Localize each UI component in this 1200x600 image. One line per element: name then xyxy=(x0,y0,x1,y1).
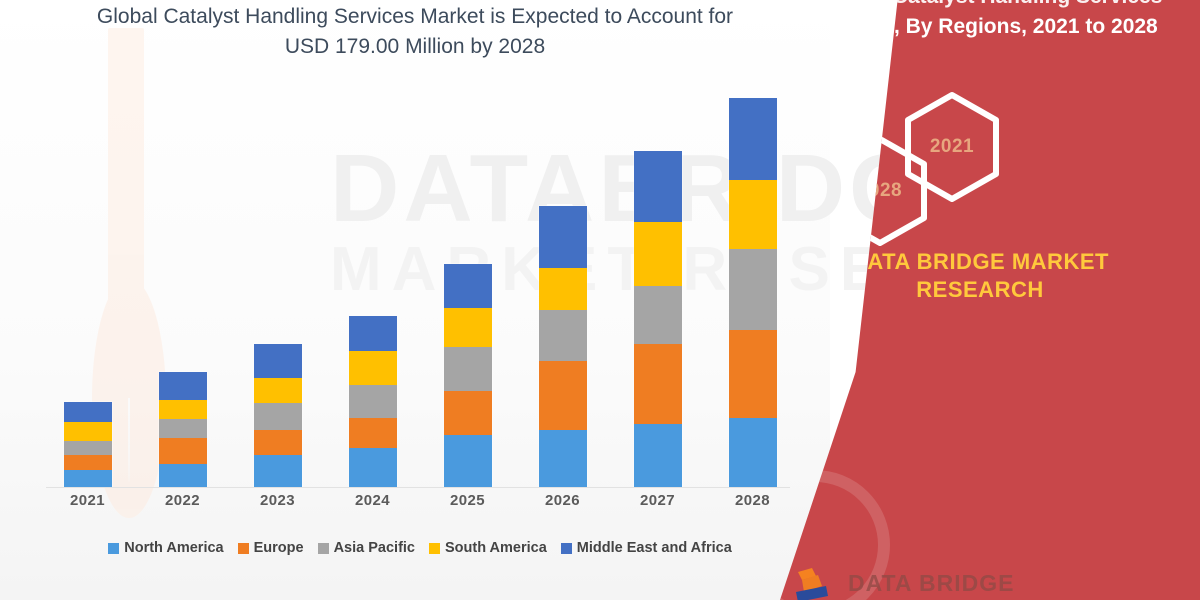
legend-item-middle-east-and-africa[interactable]: Middle East and Africa xyxy=(561,540,732,556)
bar-stack[interactable] xyxy=(539,206,587,487)
panel-title-line-2: Market, By Regions, 2021 to 2028 xyxy=(802,12,1182,42)
x-axis-label-2023: 2023 xyxy=(233,492,323,509)
bar-segment-europe[interactable] xyxy=(64,455,112,470)
bar-segment-europe[interactable] xyxy=(729,330,777,418)
bar-column-2021[interactable] xyxy=(43,60,133,487)
x-axis-label-2026: 2026 xyxy=(518,492,608,509)
data-bridge-logo: DATA BRIDGE xyxy=(792,560,1092,600)
bar-stack[interactable] xyxy=(159,372,207,487)
logo-text: DATA BRIDGE xyxy=(848,570,1014,597)
stacked-bar-chart: 20212022202320242025202620272028 xyxy=(40,60,800,530)
bar-segment-middle-east-and-africa[interactable] xyxy=(444,264,492,308)
bar-segment-middle-east-and-africa[interactable] xyxy=(634,151,682,222)
legend-item-north-america[interactable]: North America xyxy=(108,540,223,556)
legend-item-asia-pacific[interactable]: Asia Pacific xyxy=(318,540,415,556)
legend-label: North America xyxy=(124,540,223,556)
bar-column-2026[interactable] xyxy=(518,60,608,487)
chart-plot-area xyxy=(40,60,800,487)
x-axis-label-2022: 2022 xyxy=(138,492,228,509)
hexagon-2021-label: 2021 xyxy=(902,91,1002,203)
bar-segment-middle-east-and-africa[interactable] xyxy=(159,372,207,400)
legend-swatch-icon xyxy=(429,543,440,554)
x-axis-line xyxy=(46,487,790,488)
legend-swatch-icon xyxy=(238,543,249,554)
page-title: Global Catalyst Handling Services Market… xyxy=(95,2,735,62)
bar-stack[interactable] xyxy=(634,151,682,487)
bar-stack[interactable] xyxy=(64,402,112,487)
hexagon-2021: 2021 xyxy=(902,91,1002,203)
legend-label: Asia Pacific xyxy=(334,540,415,556)
bar-segment-asia-pacific[interactable] xyxy=(634,286,682,345)
legend-item-europe[interactable]: Europe xyxy=(238,540,304,556)
bar-segment-europe[interactable] xyxy=(254,430,302,455)
bar-segment-asia-pacific[interactable] xyxy=(729,249,777,330)
bar-segment-south-america[interactable] xyxy=(64,422,112,441)
bar-segment-south-america[interactable] xyxy=(444,308,492,347)
bar-segment-middle-east-and-africa[interactable] xyxy=(64,402,112,422)
bar-segment-south-america[interactable] xyxy=(634,222,682,286)
bar-segment-middle-east-and-africa[interactable] xyxy=(729,98,777,180)
bar-segment-middle-east-and-africa[interactable] xyxy=(254,344,302,377)
bar-segment-asia-pacific[interactable] xyxy=(539,310,587,361)
legend-swatch-icon xyxy=(318,543,329,554)
bar-segment-asia-pacific[interactable] xyxy=(159,419,207,439)
bar-segment-north-america[interactable] xyxy=(64,470,112,487)
bar-segment-north-america[interactable] xyxy=(634,424,682,487)
x-axis-label-2021: 2021 xyxy=(43,492,133,509)
bar-segment-middle-east-and-africa[interactable] xyxy=(349,316,397,351)
x-axis-label-2028: 2028 xyxy=(708,492,798,509)
bar-stack[interactable] xyxy=(729,98,777,487)
bar-segment-north-america[interactable] xyxy=(254,455,302,487)
logo-mark-icon xyxy=(792,562,838,600)
bar-segment-south-america[interactable] xyxy=(349,351,397,385)
legend-label: South America xyxy=(445,540,547,556)
bar-segment-europe[interactable] xyxy=(634,344,682,424)
bar-column-2025[interactable] xyxy=(423,60,513,487)
bar-segment-europe[interactable] xyxy=(444,391,492,435)
bar-column-2022[interactable] xyxy=(138,60,228,487)
x-axis-label-2025: 2025 xyxy=(423,492,513,509)
x-axis-labels: 20212022202320242025202620272028 xyxy=(40,492,800,509)
bar-segment-north-america[interactable] xyxy=(729,418,777,487)
bar-segment-south-america[interactable] xyxy=(254,378,302,403)
panel-title: Global Catalyst Handling Services Market… xyxy=(802,0,1182,42)
legend-label: Middle East and Africa xyxy=(577,540,732,556)
infographic-canvas: DATABRIDGE MARKET RESEARCH Global Cataly… xyxy=(0,0,1200,600)
legend-swatch-icon xyxy=(108,543,119,554)
bar-stack[interactable] xyxy=(444,264,492,487)
bar-segment-north-america[interactable] xyxy=(444,435,492,487)
bar-stack[interactable] xyxy=(254,344,302,487)
bar-column-2028[interactable] xyxy=(708,60,798,487)
bar-column-2024[interactable] xyxy=(328,60,418,487)
bar-column-2023[interactable] xyxy=(233,60,323,487)
bar-segment-asia-pacific[interactable] xyxy=(349,385,397,418)
bar-segment-north-america[interactable] xyxy=(349,448,397,487)
bar-segment-asia-pacific[interactable] xyxy=(254,403,302,430)
bar-segment-europe[interactable] xyxy=(159,438,207,463)
legend-label: Europe xyxy=(254,540,304,556)
bar-segment-north-america[interactable] xyxy=(539,430,587,487)
x-axis-label-2027: 2027 xyxy=(613,492,703,509)
legend-swatch-icon xyxy=(561,543,572,554)
bar-segment-south-america[interactable] xyxy=(159,400,207,419)
bar-group xyxy=(40,60,800,487)
bar-segment-europe[interactable] xyxy=(349,418,397,448)
bar-segment-asia-pacific[interactable] xyxy=(444,347,492,391)
bar-segment-asia-pacific[interactable] xyxy=(64,441,112,455)
bar-stack[interactable] xyxy=(349,316,397,487)
bar-segment-south-america[interactable] xyxy=(539,268,587,310)
bar-segment-south-america[interactable] xyxy=(729,180,777,250)
bar-segment-europe[interactable] xyxy=(539,361,587,430)
legend-item-south-america[interactable]: South America xyxy=(429,540,547,556)
panel-title-line-1: Global Catalyst Handling Services xyxy=(802,0,1182,12)
bar-segment-middle-east-and-africa[interactable] xyxy=(539,206,587,268)
bar-segment-north-america[interactable] xyxy=(159,464,207,487)
chart-legend: North AmericaEuropeAsia PacificSouth Ame… xyxy=(40,540,800,556)
bar-column-2027[interactable] xyxy=(613,60,703,487)
x-axis-label-2024: 2024 xyxy=(328,492,418,509)
